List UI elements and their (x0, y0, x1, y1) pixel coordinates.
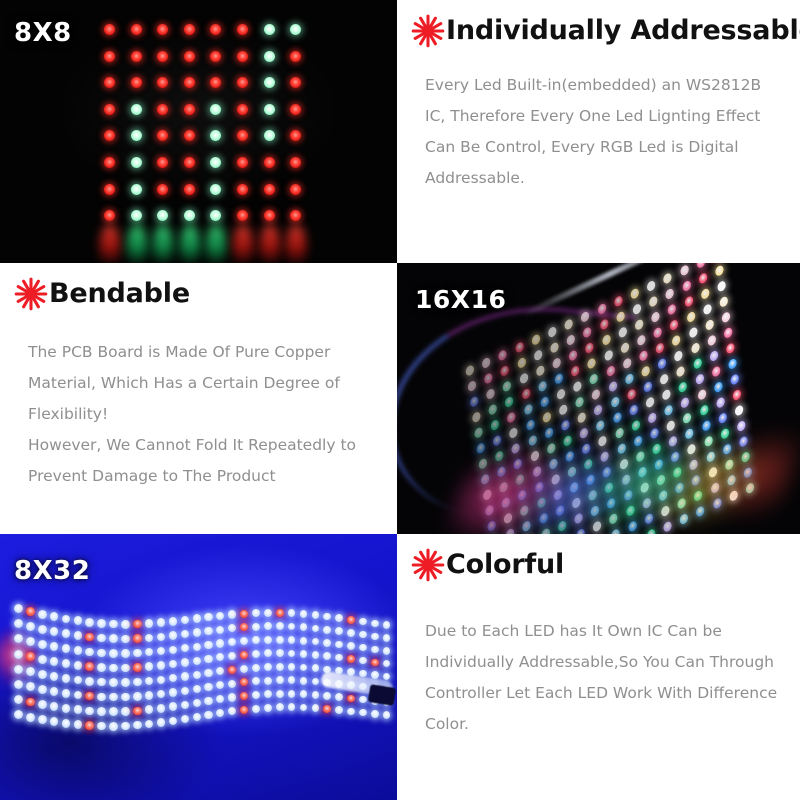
led-pixel (288, 676, 296, 684)
led-pixel (240, 692, 248, 700)
led-pixel (681, 396, 690, 409)
photo-label-8x8: 8X8 (14, 18, 72, 48)
led-pixel (587, 357, 596, 370)
led-pixel (97, 678, 106, 687)
led-glow (180, 224, 200, 263)
led-pixel (109, 678, 118, 687)
led-pixel (300, 690, 308, 698)
led-pixel (97, 707, 106, 716)
led-pixel (624, 372, 633, 385)
led-pixel (26, 713, 35, 722)
led-pixel (157, 77, 168, 88)
led-pixel (484, 372, 493, 385)
led-pixel (264, 184, 275, 195)
led-pixel (637, 334, 646, 347)
led-pixel (690, 342, 699, 355)
led-pixel (371, 620, 379, 628)
led-pixel (204, 711, 212, 719)
led-pixel (721, 311, 730, 324)
led-pixel (700, 287, 709, 300)
led-pixel (288, 636, 296, 644)
led-pixel (85, 677, 94, 686)
led-glow (286, 224, 306, 263)
led-pixel (97, 693, 106, 702)
led-pixel (104, 157, 115, 168)
led-pixel (288, 623, 296, 631)
led-pixel (184, 104, 195, 115)
led-pixel (193, 628, 201, 636)
led-pixel (573, 380, 582, 393)
heading-text: Colorful (446, 550, 564, 580)
led-pixel (104, 24, 115, 35)
panel-text-bendable: Bendable The PCB Board is Made Of Pure C… (0, 263, 397, 534)
led-pixel (14, 619, 23, 628)
led-pixel (500, 364, 509, 377)
led-pixel (347, 708, 355, 716)
led-pixel (264, 663, 272, 671)
led-pixel (288, 663, 296, 671)
led-pixel (680, 264, 689, 277)
led-pixel (85, 618, 94, 627)
led-pixel (509, 426, 518, 439)
led-pixel (676, 365, 685, 378)
led-pixel (184, 184, 195, 195)
led-pixel (288, 650, 296, 658)
led-pixel (237, 210, 248, 221)
led-pixel (97, 634, 106, 643)
red-starburst-icon (411, 14, 445, 48)
led-pixel (109, 693, 118, 702)
led-pixel (264, 677, 272, 685)
heading-text: Individually Addressable IC (446, 16, 800, 46)
led-pixel (264, 24, 275, 35)
led-pixel (523, 403, 532, 416)
led-pixel (335, 614, 343, 622)
led-pixel (359, 696, 367, 704)
led-pixel (193, 671, 201, 679)
led-pixel (145, 648, 153, 656)
led-pixel (312, 704, 320, 712)
photo-label-8x32: 8X32 (14, 556, 90, 586)
led-pixel (488, 403, 497, 416)
led-pixel (133, 649, 142, 658)
led-pixel (540, 395, 549, 408)
led-pixel (711, 365, 720, 378)
led-pixel (157, 210, 168, 221)
led-pixel (121, 620, 130, 629)
led-pixel (145, 634, 153, 642)
led-pixel (684, 295, 693, 308)
panel-photo-8x8: 8X8 (0, 0, 397, 263)
led-pixel (216, 709, 224, 717)
led-pixel (62, 615, 71, 624)
led-pixel (290, 51, 301, 62)
led-pixel (648, 411, 657, 424)
led-pixel (663, 272, 672, 285)
led-pixel (347, 695, 355, 703)
led-pixel (216, 653, 224, 661)
led-pixel (264, 704, 272, 712)
led-pixel (290, 77, 301, 88)
led-pixel (575, 396, 584, 409)
led-pixel (237, 157, 248, 168)
led-pixel (290, 130, 301, 141)
panel-text-individually-addressable-ic: Individually Addressable IC Every Led Bu… (397, 0, 800, 263)
led-pixel (62, 659, 71, 668)
led-pixel (716, 396, 725, 409)
led-pixel (97, 649, 106, 658)
led-pixel (104, 104, 115, 115)
led-pixel (608, 380, 617, 393)
led-pixel (50, 687, 59, 696)
led-pixel (383, 673, 390, 680)
led-matrix-8x8 (104, 24, 296, 216)
led-pixel (383, 647, 390, 654)
led-pixel (157, 130, 168, 141)
led-pixel (631, 419, 640, 432)
led-glow (206, 224, 226, 263)
led-pixel (276, 663, 284, 671)
heading-row: Bendable (0, 263, 397, 317)
led-pixel (145, 619, 153, 627)
led-pixel (300, 623, 308, 631)
led-pixel (210, 104, 221, 115)
led-pixel (26, 637, 35, 646)
body-paragraph-1: The PCB Board is Made Of Pure Copper Mat… (28, 337, 377, 430)
led-pixel (131, 157, 142, 168)
led-pixel (210, 51, 221, 62)
led-glow (153, 224, 173, 263)
led-pixel (482, 356, 491, 369)
led-pixel (612, 411, 621, 424)
led-pixel (264, 636, 272, 644)
led-pixel (718, 412, 727, 425)
led-pixel (300, 664, 308, 672)
led-pixel (686, 311, 695, 324)
led-pixel (145, 720, 153, 728)
led-pixel (38, 640, 47, 649)
led-pixel (169, 674, 177, 682)
led-pixel (486, 387, 495, 400)
led-pixel (74, 646, 83, 655)
cable-connector (368, 684, 396, 706)
led-pixel (276, 703, 284, 711)
led-pixel (133, 678, 142, 687)
led-pixel (14, 680, 23, 689)
led-pixel (622, 357, 631, 370)
led-pixel (566, 333, 575, 346)
led-pixel (552, 357, 561, 370)
led-pixel (323, 652, 331, 660)
led-pixel (184, 157, 195, 168)
led-pixel (542, 411, 551, 424)
led-pixel (26, 607, 35, 616)
led-pixel (276, 649, 284, 657)
led-pixel (649, 295, 658, 308)
led-pixel (290, 184, 301, 195)
led-pixel (630, 287, 639, 300)
led-pixel (323, 705, 331, 713)
led-pixel (14, 650, 23, 659)
led-pixel (517, 356, 526, 369)
led-pixel (216, 639, 224, 647)
led-pixel (50, 657, 59, 666)
led-pixel (347, 616, 355, 624)
led-pixel (228, 693, 236, 701)
led-pixel (620, 341, 629, 354)
led-pixel (181, 630, 189, 638)
led-pixel (662, 388, 671, 401)
led-pixel (121, 649, 130, 658)
heading-text: Bendable (49, 279, 190, 309)
led-pixel (121, 693, 130, 702)
led-pixel (157, 157, 168, 168)
led-pixel (210, 184, 221, 195)
led-pixel (290, 157, 301, 168)
led-pixel (371, 710, 379, 718)
led-pixel (228, 707, 236, 715)
led-pixel (533, 349, 542, 362)
led-pixel (639, 349, 648, 362)
led-pixel (696, 263, 705, 269)
led-pixel (38, 625, 47, 634)
led-pixel (604, 349, 613, 362)
body-text: Due to Each LED has It Own IC Can be Ind… (397, 588, 800, 740)
led-pixel (290, 24, 301, 35)
led-pixel (121, 678, 130, 687)
led-pixel (104, 130, 115, 141)
led-pixel (14, 695, 23, 704)
led-pixel (276, 622, 284, 630)
led-pixel (169, 717, 177, 725)
led-pixel (347, 655, 355, 663)
led-pixel (705, 318, 714, 331)
led-pixel (548, 326, 557, 339)
led-pixel (216, 612, 224, 620)
led-pixel (383, 621, 390, 628)
led-pixel (133, 692, 142, 701)
led-pixel (643, 380, 652, 393)
led-pixel (181, 701, 189, 709)
led-pixel (323, 626, 331, 634)
led-pixel (38, 700, 47, 709)
red-starburst-icon (14, 277, 48, 311)
led-pixel (85, 633, 94, 642)
led-pixel (50, 702, 59, 711)
led-pixel (713, 381, 722, 394)
led-glow (127, 224, 147, 263)
led-pixel (371, 633, 379, 641)
led-pixel (730, 373, 739, 386)
panel-photo-16x16: 16X16 (397, 263, 800, 534)
led-pixel (535, 364, 544, 377)
led-pixel (323, 639, 331, 647)
led-pixel (290, 104, 301, 115)
led-pixel (627, 388, 636, 401)
led-pixel (204, 655, 212, 663)
led-pixel (145, 677, 153, 685)
led-pixel (312, 691, 320, 699)
led-pixel (498, 349, 507, 362)
led-pixel (109, 722, 118, 731)
led-pixel (252, 636, 260, 644)
led-glow (260, 224, 280, 263)
led-pixel (610, 396, 619, 409)
led-pixel (157, 633, 165, 641)
led-pixel (300, 650, 308, 658)
led-pixel (184, 130, 195, 141)
led-pixel (74, 676, 83, 685)
led-pixel (184, 51, 195, 62)
led-pixel (121, 707, 130, 716)
photo-label-16x16: 16X16 (415, 285, 506, 314)
led-pixel (26, 667, 35, 676)
led-pixel (97, 722, 106, 731)
led-pixel (157, 51, 168, 62)
led-pixel (335, 654, 343, 662)
led-pixel (732, 388, 741, 401)
led-pixel (157, 704, 165, 712)
led-glow (233, 224, 253, 263)
led-pixel (678, 380, 687, 393)
led-pixel (74, 705, 83, 714)
led-pixel (216, 667, 224, 675)
led-pixel (312, 611, 320, 619)
led-pixel (683, 411, 692, 424)
led-pixel (131, 24, 142, 35)
led-pixel (193, 713, 201, 721)
led-pixel (181, 644, 189, 652)
led-pixel (204, 641, 212, 649)
led-pixel (634, 318, 643, 331)
led-pixel (97, 663, 106, 672)
led-pixel (647, 279, 656, 292)
led-pixel (210, 210, 221, 221)
led-pixel (104, 51, 115, 62)
led-pixel (734, 404, 743, 417)
led-pixel (169, 646, 177, 654)
led-pixel (109, 707, 118, 716)
led-pixel (74, 616, 83, 625)
led-pixel (85, 662, 94, 671)
led-pixel (14, 604, 23, 613)
led-pixel (585, 341, 594, 354)
led-pixel (104, 210, 115, 221)
led-pixel (133, 707, 142, 716)
led-pixel (38, 685, 47, 694)
led-pixel (335, 641, 343, 649)
led-pixel (554, 372, 563, 385)
led-pixel (707, 334, 716, 347)
led-pixel (157, 718, 165, 726)
led-pixel (26, 652, 35, 661)
led-pixel (169, 688, 177, 696)
led-pixel (121, 664, 130, 673)
led-pixel (131, 210, 142, 221)
led-pixel (359, 644, 367, 652)
led-pixel (131, 130, 142, 141)
led-pixel (264, 690, 272, 698)
led-pixel (204, 683, 212, 691)
led-matrix-8x32 (8, 586, 393, 746)
led-pixel (74, 661, 83, 670)
led-pixel (204, 627, 212, 635)
led-pixel (467, 380, 476, 393)
led-pixel (288, 690, 296, 698)
led-pixel (14, 634, 23, 643)
led-pixel (276, 676, 284, 684)
led-pixel (193, 685, 201, 693)
feature-grid: 8X8 (0, 0, 800, 800)
led-pixel (237, 184, 248, 195)
led-pixel (228, 652, 236, 660)
led-pixel (502, 380, 511, 393)
led-pixel (347, 629, 355, 637)
led-pixel (666, 419, 675, 432)
led-pixel (104, 184, 115, 195)
led-pixel (133, 634, 142, 643)
led-pixel (359, 631, 367, 639)
led-pixel (121, 635, 130, 644)
led-pixel (252, 664, 260, 672)
led-pixel (709, 349, 718, 362)
led-reflection-glow (104, 222, 300, 263)
led-pixel (538, 380, 547, 393)
led-pixel (665, 287, 674, 300)
led-pixel (359, 709, 367, 717)
led-pixel (264, 609, 272, 617)
led-pixel (50, 672, 59, 681)
led-pixel (237, 77, 248, 88)
led-pixel (157, 184, 168, 195)
led-pixel (335, 706, 343, 714)
led-pixel (14, 665, 23, 674)
led-pixel (618, 326, 627, 339)
led-pixel (583, 326, 592, 339)
led-pixel (131, 77, 142, 88)
led-pixel (228, 624, 236, 632)
led-pixel (728, 357, 737, 370)
led-pixel (335, 693, 343, 701)
led-pixel (181, 687, 189, 695)
led-pixel (210, 130, 221, 141)
led-pixel (157, 690, 165, 698)
led-pixel (667, 303, 676, 316)
led-pixel (169, 660, 177, 668)
led-pixel (193, 643, 201, 651)
led-pixel (664, 404, 673, 417)
led-pixel (210, 24, 221, 35)
led-pixel (597, 302, 606, 315)
led-pixel (133, 721, 142, 730)
led-pixel (641, 365, 650, 378)
led-pixel (193, 699, 201, 707)
led-pixel (26, 682, 35, 691)
led-pixel (264, 51, 275, 62)
led-pixel (62, 644, 71, 653)
panel-text-colorful: Colorful Due to Each LED has It Own IC C… (397, 534, 800, 800)
led-pixel (698, 272, 707, 285)
led-pixel (14, 710, 23, 719)
led-pixel (723, 326, 732, 339)
led-pixel (276, 636, 284, 644)
led-pixel (465, 364, 474, 377)
led-pixel (145, 691, 153, 699)
led-pixel (157, 676, 165, 684)
led-pixel (181, 616, 189, 624)
led-pixel (252, 691, 260, 699)
led-pixel (323, 613, 331, 621)
